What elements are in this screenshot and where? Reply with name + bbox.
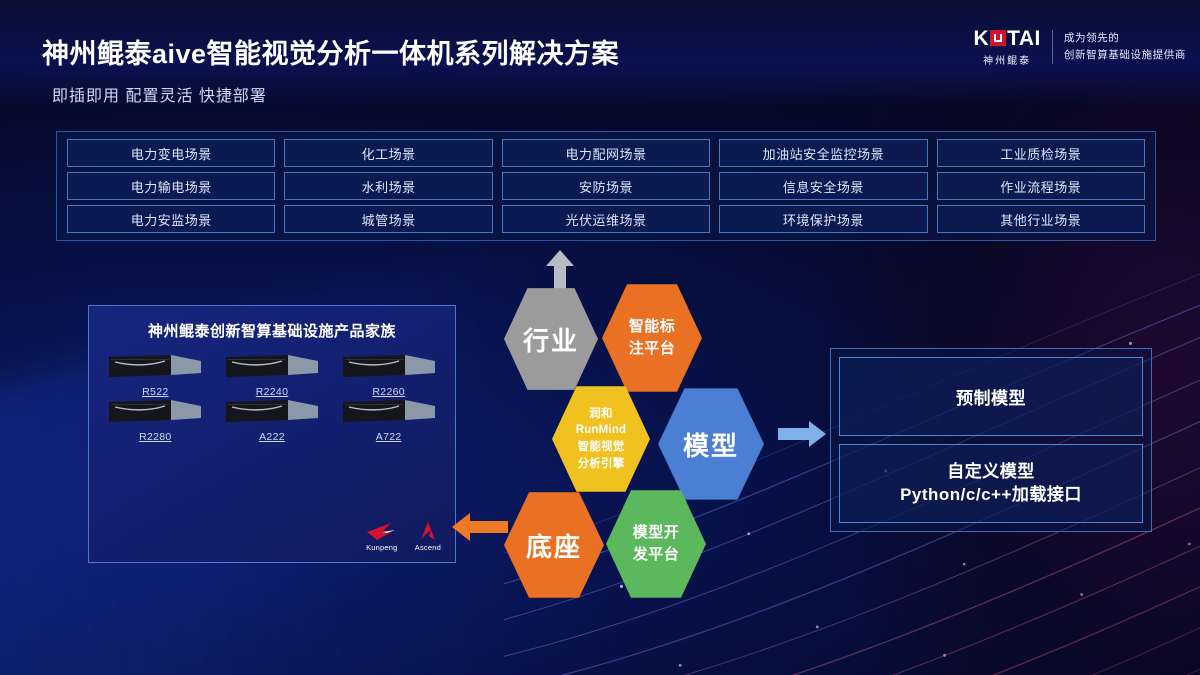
product-item[interactable]: A722 [330,398,447,443]
hexagon-annotation-line1: 智能标 [629,316,676,338]
logo-word-post: TAI [1007,28,1041,49]
brand-logo: K TAI 神州鲲泰 成为领先的 创新智算基础设施提供商 [973,24,1186,70]
hexagon-engine-line4: 分析引擎 [578,456,625,473]
hexagon-model-dev-line1: 模型开 [633,522,680,544]
hexagon-base-line1: 底座 [526,527,582,564]
product-family-panel: 神州鲲泰创新智算基础设施产品家族 R522 [88,305,456,563]
ascend-label: Ascend [415,543,441,552]
product-label[interactable]: A222 [259,431,285,443]
scenario-cell[interactable]: 光伏运维场景 [502,205,710,233]
product-label[interactable]: R2240 [256,386,288,398]
product-label[interactable]: A722 [376,431,402,443]
hexagon-cluster: 行业 智能标 注平台 润和 RunMind 智能视觉 分析引擎 模型 底座 模型… [494,282,794,572]
server-icon [226,353,318,379]
logo-tagline: 成为领先的 创新智算基础设施提供商 [1064,32,1186,61]
hexagon-annotation-line2: 注平台 [629,338,676,360]
logo-word-pre: K [973,28,989,49]
logo-tagline-line1: 成为领先的 [1064,32,1186,45]
logo-chinese-name: 神州鲲泰 [983,52,1031,67]
hexagon-annotation[interactable]: 智能标 注平台 [602,282,702,394]
preset-model-label: 预制模型 [956,384,1026,409]
partner-chip-logos: Kunpeng Ascend [365,521,441,552]
scenario-cell[interactable]: 其他行业场景 [937,205,1145,233]
preset-model-box[interactable]: 预制模型 [839,357,1143,436]
kunpeng-label: Kunpeng [366,543,397,552]
hexagon-model[interactable]: 模型 [658,386,764,502]
hexagon-engine-line2: RunMind [576,422,627,439]
logo-divider [1052,30,1053,64]
hexagon-engine-line3: 智能视觉 [578,439,625,456]
hexagon-engine[interactable]: 润和 RunMind 智能视觉 分析引擎 [552,384,650,494]
slide-canvas: 神州鲲泰aive智能视觉分析一体机系列解决方案 即插即用 配置灵活 快捷部署 K… [0,0,1200,675]
scenario-cell[interactable]: 工业质检场景 [937,139,1145,167]
hexagon-industry-line1: 行业 [523,321,579,358]
product-label[interactable]: R522 [142,386,168,398]
custom-model-line2: Python/c/c++加载接口 [900,484,1082,507]
scenario-cell[interactable]: 电力安监场景 [67,205,275,233]
server-icon [109,353,201,379]
product-family-title: 神州鲲泰创新智算基础设施产品家族 [89,320,455,341]
product-item[interactable]: R2240 [214,353,331,398]
product-label[interactable]: R2280 [139,431,171,443]
product-grid: R522 R2240 [89,353,455,443]
logo-mark: K TAI 神州鲲泰 [973,28,1040,67]
model-panel: 预制模型 自定义模型 Python/c/c++加载接口 [830,348,1152,532]
scenario-cell[interactable]: 加油站安全监控场景 [719,139,927,167]
scenario-cell[interactable]: 电力配网场景 [502,139,710,167]
scenario-cell[interactable]: 环境保护场景 [719,205,927,233]
scenario-cell[interactable]: 水利场景 [284,172,492,200]
kunpeng-chip: Kunpeng [365,521,399,552]
logo-wordmark: K TAI [973,28,1040,49]
server-icon [109,398,201,424]
scenario-cell[interactable]: 安防场景 [502,172,710,200]
scenario-cell[interactable]: 化工场景 [284,139,492,167]
scenario-grid: 电力变电场景 化工场景 电力配网场景 加油站安全监控场景 工业质检场景 电力输电… [56,131,1156,241]
page-subtitle: 即插即用 配置灵活 快捷部署 [52,82,267,106]
server-icon [343,353,435,379]
scenario-cell[interactable]: 作业流程场景 [937,172,1145,200]
ascend-chip: Ascend [415,521,441,552]
hexagon-industry[interactable]: 行业 [504,286,598,392]
scenario-cell[interactable]: 信息安全场景 [719,172,927,200]
hexagon-model-dev-line2: 发平台 [633,544,680,566]
arrow-left-icon [452,512,508,542]
hexagon-model-line1: 模型 [683,426,739,463]
scenario-cell[interactable]: 城管场景 [284,205,492,233]
arrow-right-icon [778,420,826,448]
server-icon [343,398,435,424]
custom-model-line1: 自定义模型 [947,461,1035,484]
product-item[interactable]: R2260 [330,353,447,398]
kunpeng-icon [365,521,399,541]
product-label[interactable]: R2260 [372,386,404,398]
server-icon [226,398,318,424]
scenario-cell[interactable]: 电力输电场景 [67,172,275,200]
product-item[interactable]: A222 [214,398,331,443]
page-title: 神州鲲泰aive智能视觉分析一体机系列解决方案 [42,32,619,71]
product-item[interactable]: R522 [97,353,214,398]
custom-model-box[interactable]: 自定义模型 Python/c/c++加载接口 [839,444,1143,523]
ascend-icon [417,521,439,541]
logo-kun-icon [990,30,1006,46]
logo-tagline-line2: 创新智算基础设施提供商 [1064,49,1186,62]
scenario-cell[interactable]: 电力变电场景 [67,139,275,167]
hexagon-engine-line1: 润和 [589,406,612,423]
product-item[interactable]: R2280 [97,398,214,443]
